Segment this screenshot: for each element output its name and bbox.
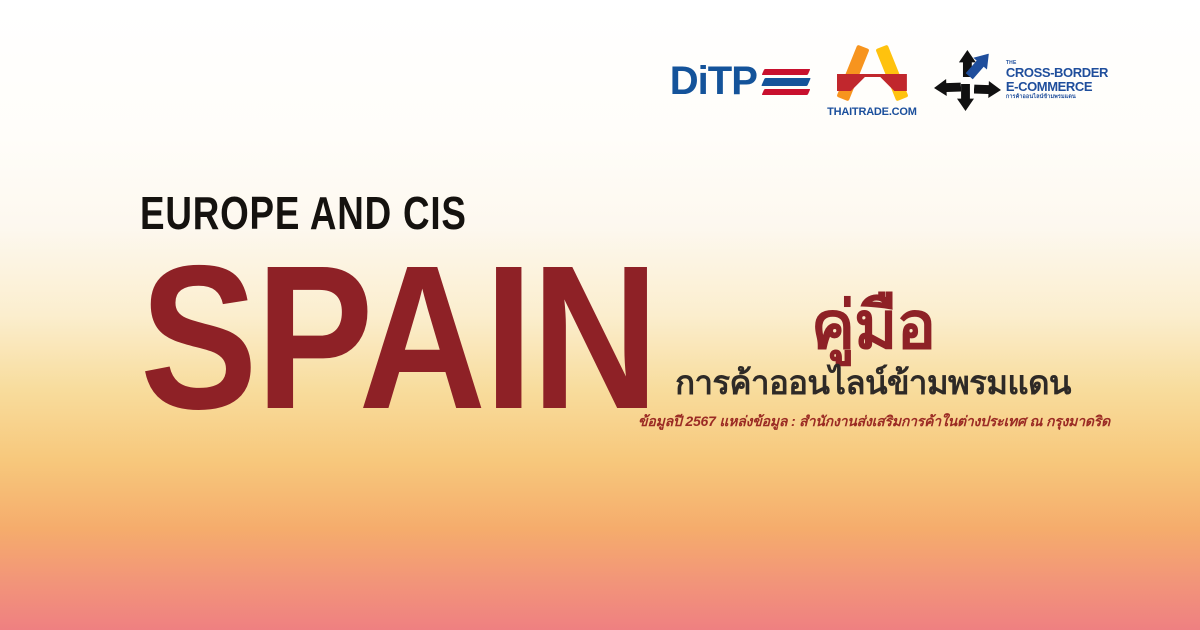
cbe-line2: E-COMMERCE — [1006, 80, 1108, 93]
thai-headline: คู่มือ — [638, 292, 1108, 358]
thai-subheadline: การค้าออนไลน์ข้ามพรมแดน — [638, 364, 1108, 402]
thaitrade-wordmark: THAITRADE.COM — [827, 106, 917, 118]
cross-border-ecommerce-logo[interactable]: THE CROSS-BORDER E-COMMERCE การค้าออนไลน… — [937, 52, 1108, 110]
country-title: SPAIN — [140, 250, 657, 426]
cross-border-wordmark: THE CROSS-BORDER E-COMMERCE การค้าออนไลน… — [1006, 61, 1108, 101]
cover-page: DiTP THAITRADE.COM THE — [0, 0, 1200, 630]
cbe-line1: CROSS-BORDER — [1006, 66, 1108, 79]
arrows-cluster-icon — [937, 52, 999, 110]
thaitrade-mark-icon — [835, 47, 909, 103]
ditp-logo[interactable]: DiTP — [670, 61, 807, 101]
ditp-wordmark: DiTP — [670, 61, 757, 101]
thai-source-line: ข้อมูลปี 2567 แหล่งข้อมูล : สำนักงานส่งเ… — [638, 411, 1108, 433]
thai-flag-stripes-icon — [763, 64, 807, 98]
thai-title-block: คู่มือ การค้าออนไลน์ข้ามพรมแดน ข้อมูลปี … — [638, 292, 1108, 433]
logo-strip: DiTP THAITRADE.COM THE — [670, 44, 1108, 118]
cbe-thai-subtitle: การค้าออนไลน์ข้ามพรมแดน — [1006, 95, 1108, 101]
thaitrade-logo[interactable]: THAITRADE.COM — [831, 44, 913, 118]
